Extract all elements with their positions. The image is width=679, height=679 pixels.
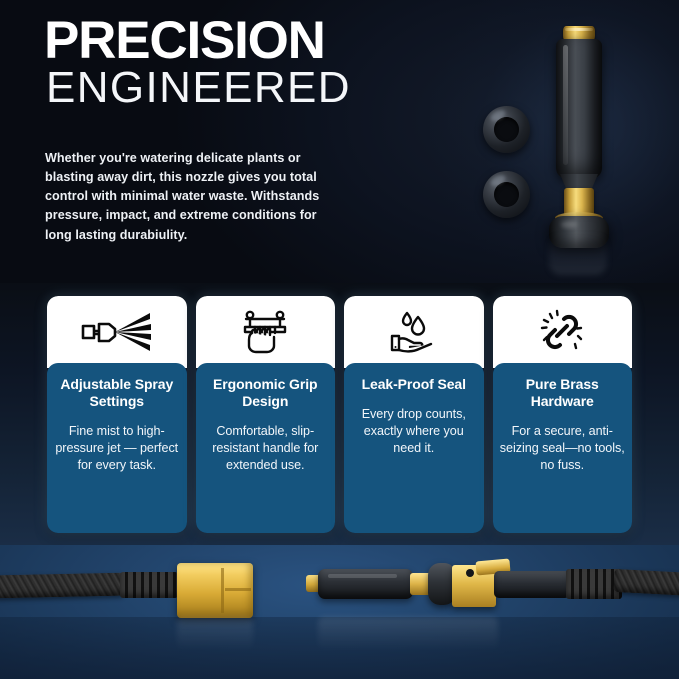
feature-title: Ergonomic Grip Design [203,376,329,410]
features-section: Adjustable Spray Settings Fine mist to h… [0,283,679,545]
feature-card-leak-proof-seal[interactable]: Leak-Proof Seal Every drop counts, exact… [344,296,484,533]
hose-strain-relief-left [120,572,178,598]
feature-title: Leak-Proof Seal [362,376,466,393]
feature-title: Adjustable Spray Settings [54,376,180,410]
black-nozzle-grip [318,569,413,599]
o-ring-seal-upper [483,106,530,153]
headline-line-1: PRECISION [44,14,325,67]
feature-card-body: Ergonomic Grip Design Comfortable, slip-… [196,363,336,533]
braided-hose-right [613,569,679,596]
nozzle-assembly [547,26,611,241]
product-image-nozzle [455,8,679,283]
feature-title: Pure Brass Hardware [500,376,626,410]
feature-card-body: Leak-Proof Seal Every drop counts, exact… [344,363,484,533]
feature-card-pure-brass[interactable]: Pure Brass Hardware For a secure, anti-s… [493,296,633,533]
nozzle-assembly-reflection [318,617,498,651]
brass-hose-connector [177,563,253,618]
feature-card-list: Adjustable Spray Settings Fine mist to h… [47,296,632,533]
hand-grip-icon [196,296,336,368]
hand-water-drop-icon [344,296,484,368]
feature-card-ergonomic-grip[interactable]: Ergonomic Grip Design Comfortable, slip-… [196,296,336,533]
feature-card-body: Adjustable Spray Settings Fine mist to h… [47,363,187,533]
hose-product-section [0,545,679,679]
feature-card-adjustable-spray[interactable]: Adjustable Spray Settings Fine mist to h… [47,296,187,533]
nozzle-black-body [556,39,602,179]
black-hose-shaft [494,571,570,598]
feature-description: For a secure, anti-seizing seal—no tools… [500,423,626,474]
chain-link-sparkle-icon [493,296,633,368]
spray-nozzle-icon [47,296,187,368]
feature-description: Fine mist to high-pressure jet — perfect… [54,423,180,474]
headline-line-2: ENGINEERED [46,66,351,110]
connector-reflection [177,617,253,651]
o-ring-seal-lower [483,171,530,218]
hero-body-text: Whether you're watering delicate plants … [45,149,335,245]
feature-description: Every drop counts, exactly where you nee… [351,406,477,457]
hero-section: PRECISION ENGINEERED Whether you're wate… [0,0,679,283]
braided-hose-left [0,573,124,599]
valve-pivot-dot [466,569,474,577]
feature-card-body: Pure Brass Hardware For a secure, anti-s… [493,363,633,533]
feature-description: Comfortable, slip-resistant handle for e… [203,423,329,474]
nozzle-reflection [549,233,607,275]
